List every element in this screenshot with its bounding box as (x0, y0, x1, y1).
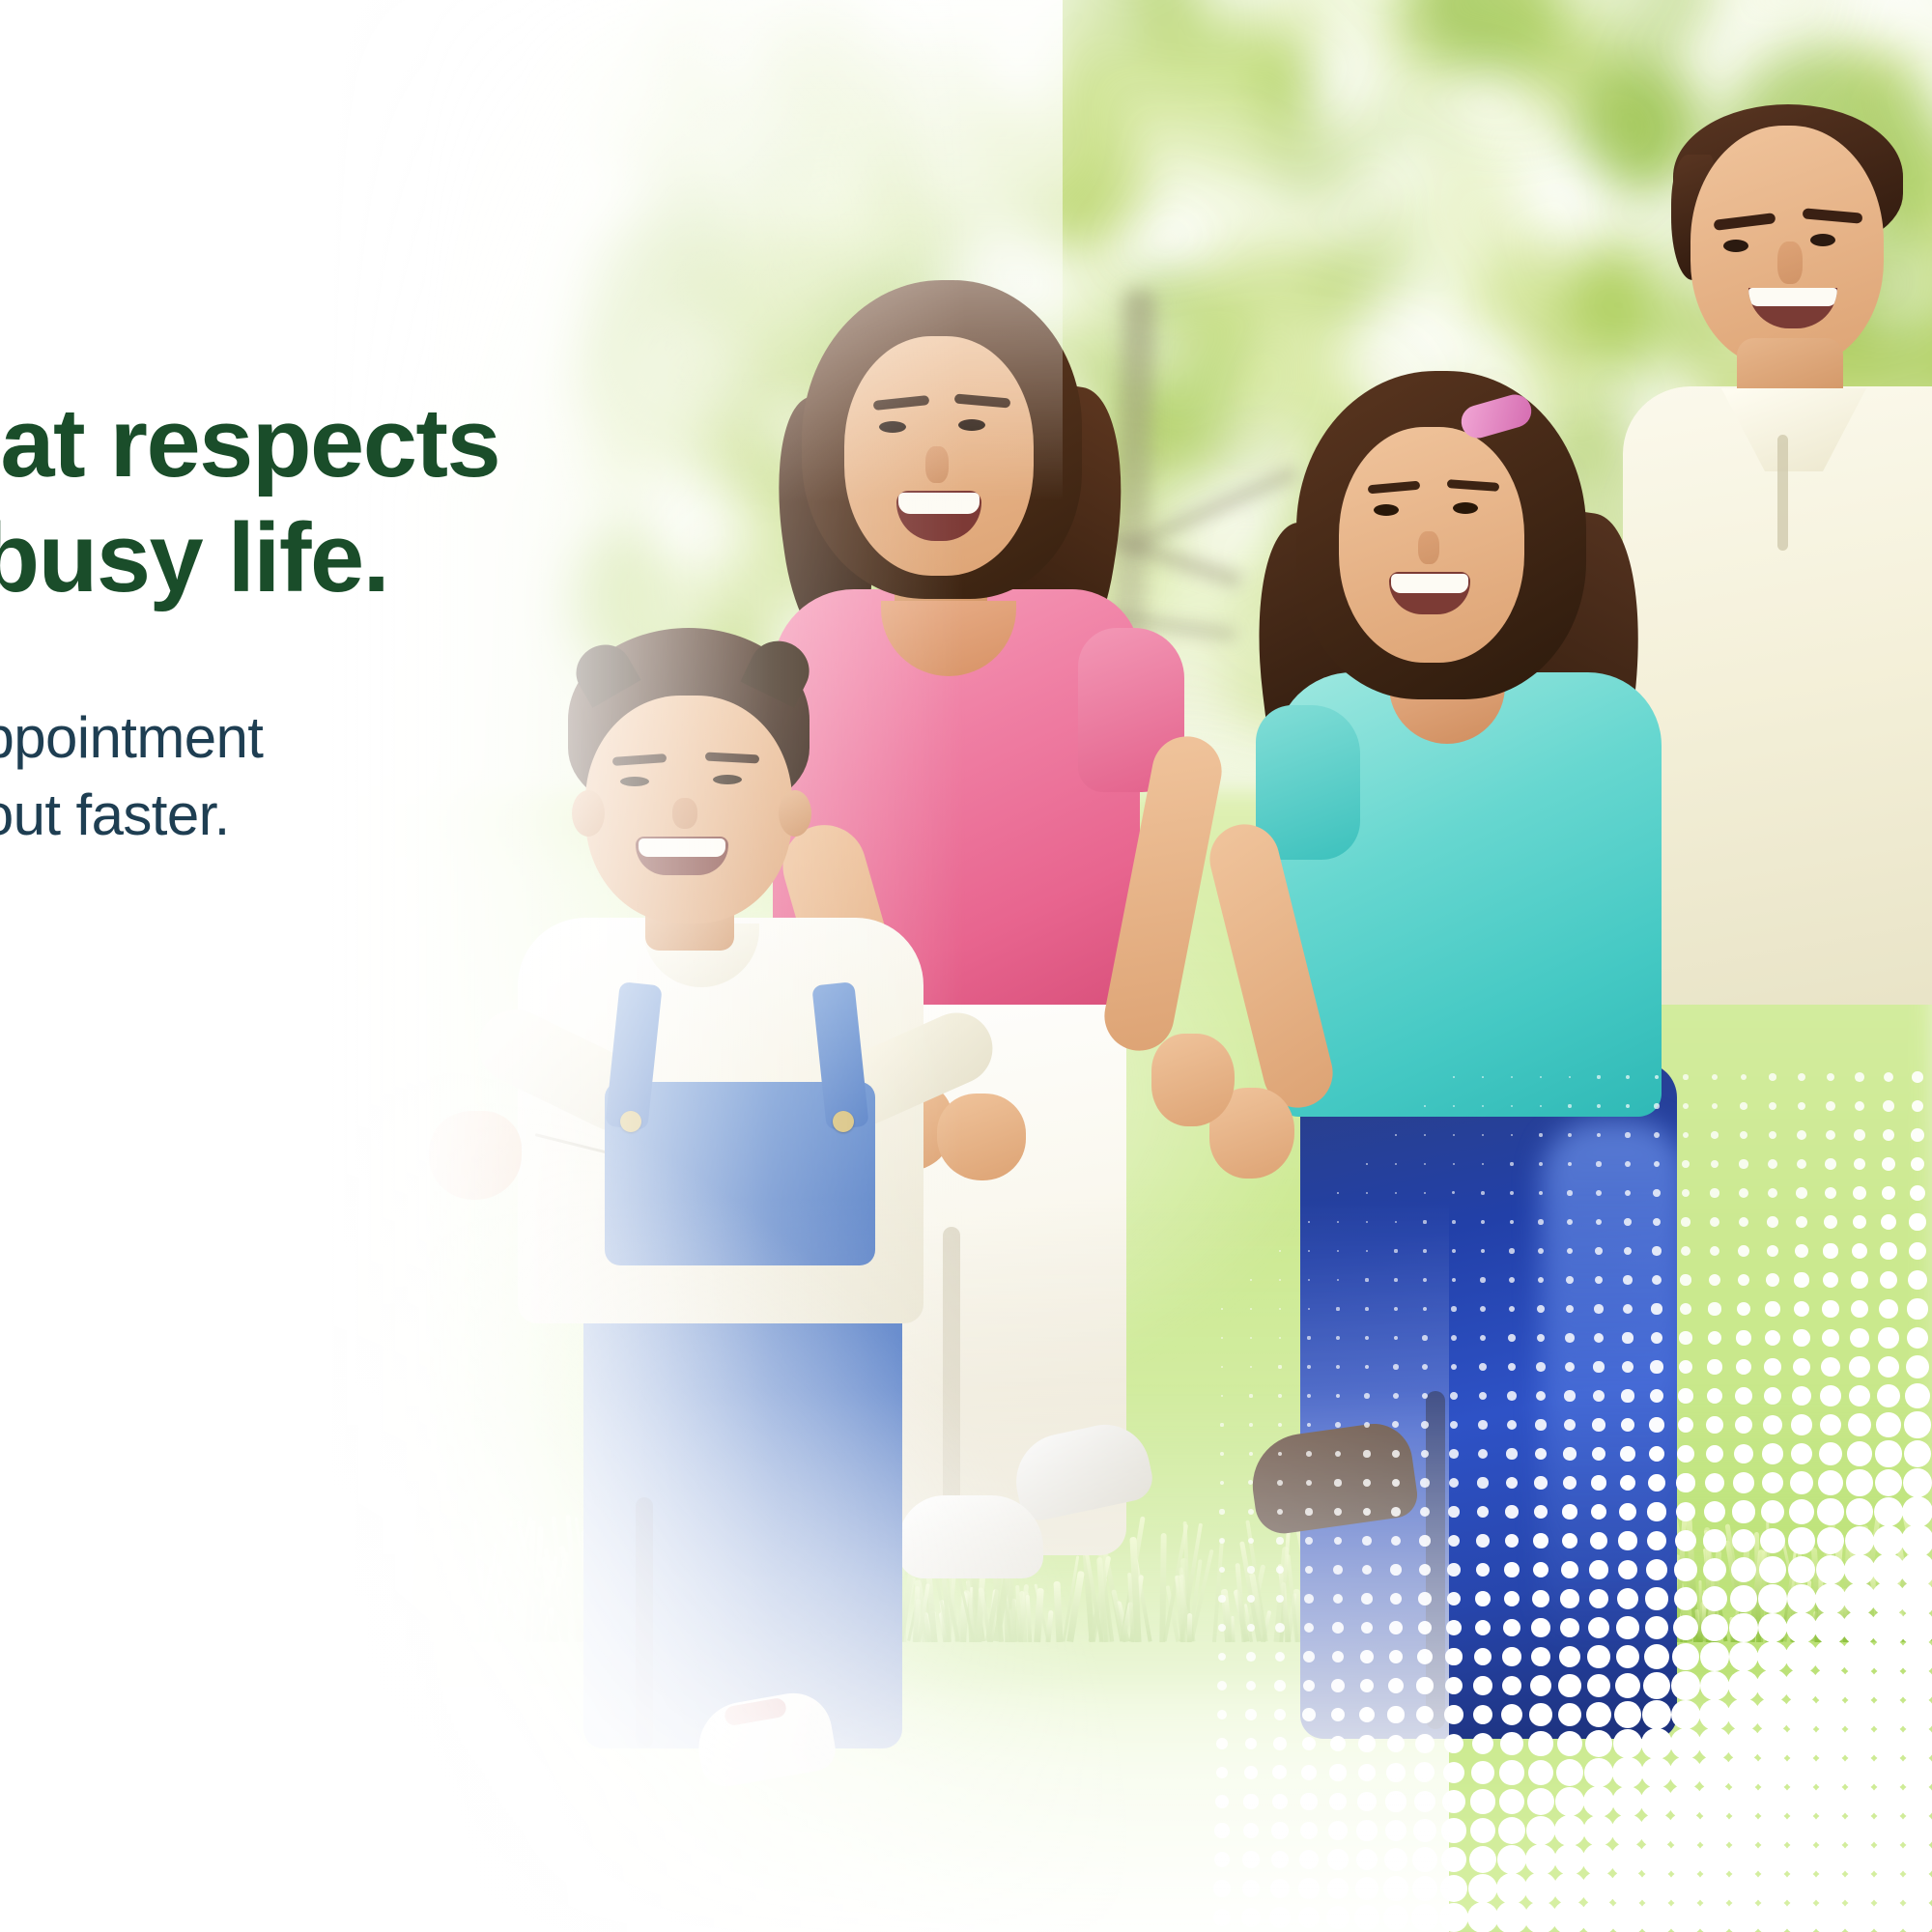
son-ear-right (779, 790, 811, 837)
person-daughter (1246, 367, 1748, 1642)
daughter-jeans (1300, 1063, 1677, 1739)
page-headline: lab that respects your busy life. (0, 386, 715, 616)
daughter-eye-right (1453, 502, 1478, 514)
mother-nose (925, 446, 949, 483)
subcopy-line-1: dule an appointment (0, 699, 715, 776)
daughter-eye-left (1374, 504, 1399, 516)
son-overalls-button-right (833, 1111, 854, 1132)
daughter-teeth (1391, 574, 1468, 593)
headline-line-1: lab that respects (0, 386, 715, 501)
son-overalls-inseam (636, 1497, 653, 1748)
father-teeth (1748, 288, 1837, 306)
son-hand-right (937, 1094, 1026, 1180)
father-nose (1777, 241, 1803, 284)
mother-hand-right (1151, 1034, 1235, 1126)
son-overalls-button-left (620, 1111, 641, 1132)
mother-eye-right (958, 419, 985, 431)
son-hand-left (429, 1111, 522, 1200)
father-eye-right (1810, 234, 1835, 246)
son-eye-right (713, 775, 742, 784)
hero-banner: lab that respects your busy life. dule a… (0, 0, 1932, 1932)
daughter-jeans-highlight (1542, 1121, 1677, 1662)
father-placket (1777, 435, 1788, 551)
daughter-nose (1418, 531, 1439, 564)
father-eye-left (1723, 240, 1748, 252)
mother-teeth (898, 493, 980, 514)
hero-copy-block: lab that respects your busy life. dule a… (0, 386, 715, 853)
daughter-jeans-inseam (1426, 1391, 1445, 1729)
page-subcopy: dule an appointment et in and out faster… (0, 616, 715, 852)
headline-line-2: your busy life. (0, 501, 715, 616)
mother-eye-left (879, 421, 906, 433)
subcopy-line-2: et in and out faster. (0, 777, 715, 853)
family-park-photo (0, 0, 1932, 1932)
